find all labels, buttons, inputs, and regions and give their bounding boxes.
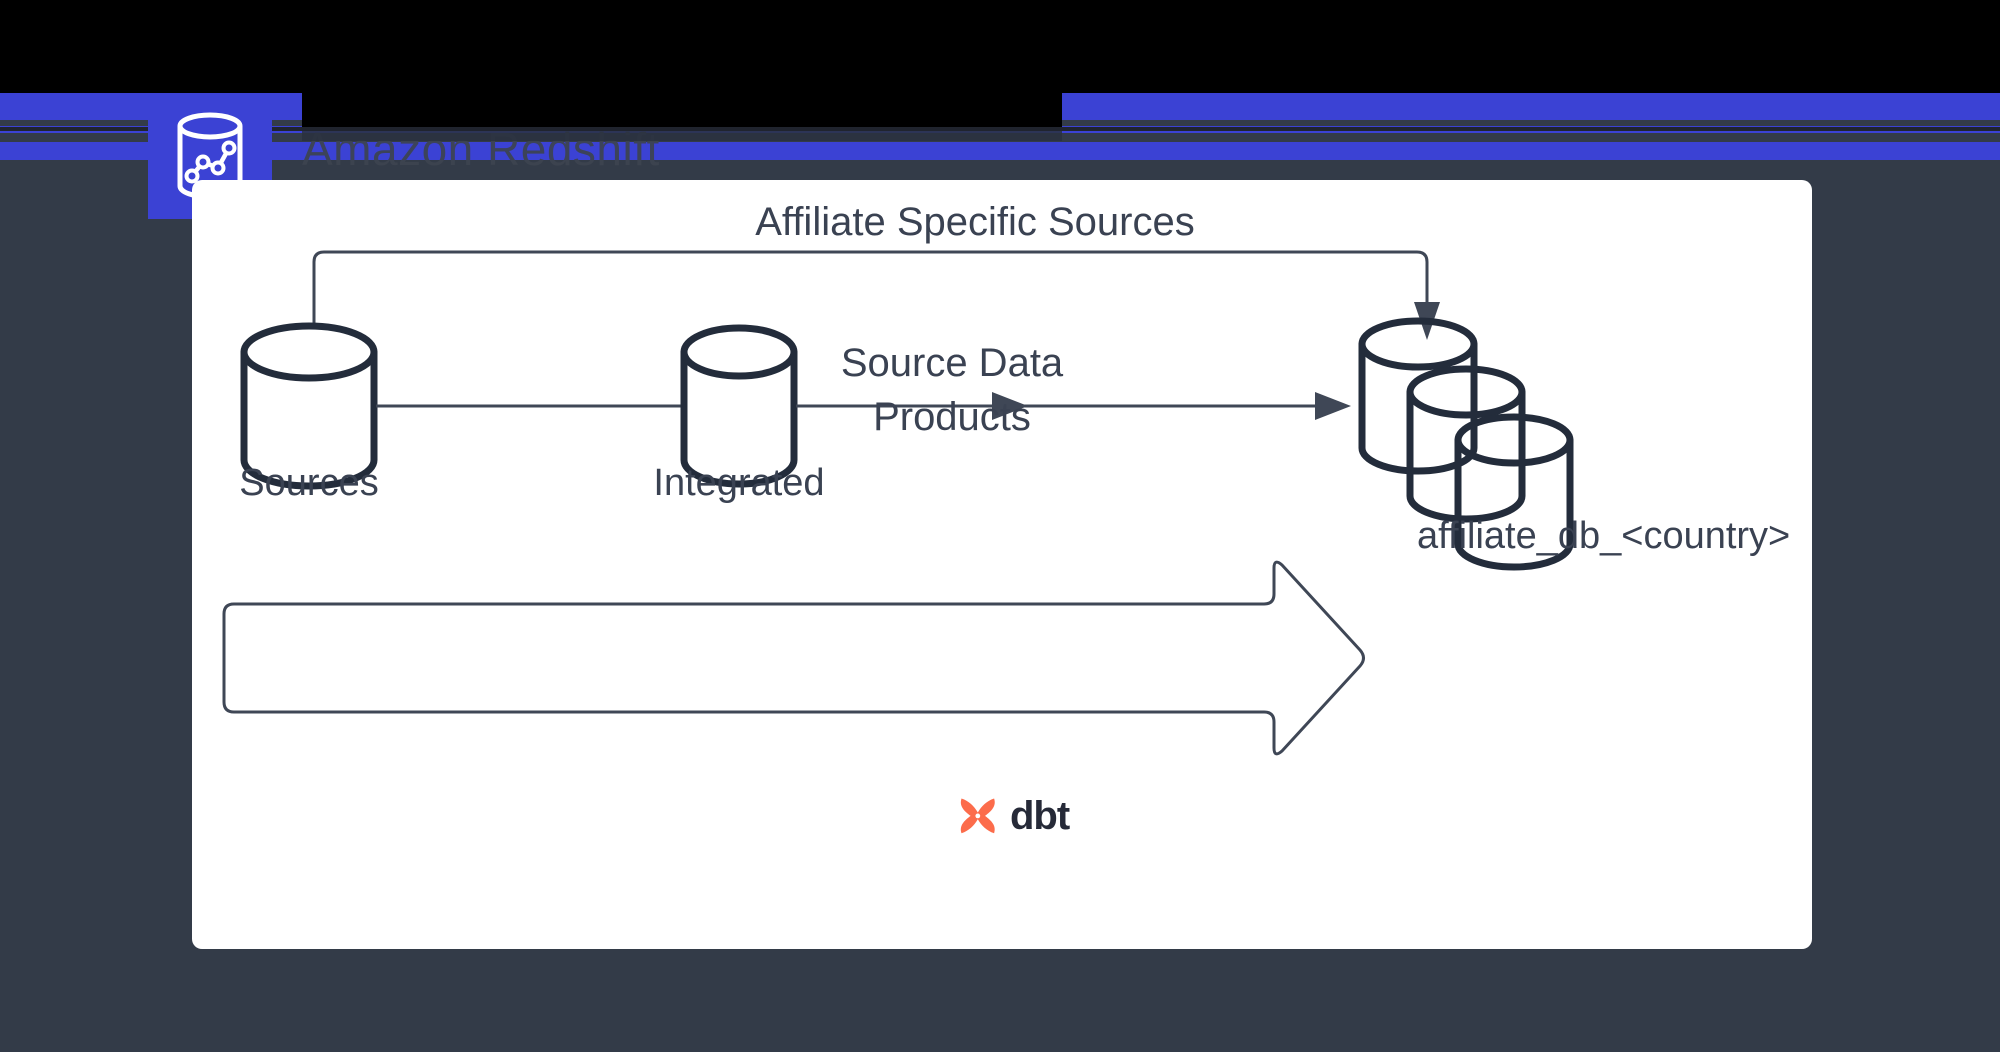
edge-sources-affiliate-line xyxy=(314,252,1427,332)
screenshot-root: Amazon Redshift Affiliate Specific Sourc… xyxy=(0,0,2000,1052)
edge-integrated-affiliate-arrowhead xyxy=(1315,392,1351,420)
dbt-logo: dbt xyxy=(955,793,1069,839)
node-integrated-label: Integrated xyxy=(653,462,824,504)
node-integrated xyxy=(684,328,794,484)
dbt-x-icon xyxy=(955,793,1001,839)
header-title-occluder-mid xyxy=(302,131,1062,141)
edge-sources-affiliate-label: Affiliate Specific Sources xyxy=(755,200,1194,244)
node-sources-label: Sources xyxy=(239,462,378,504)
dbt-wordmark: dbt xyxy=(1010,796,1069,836)
banner-artifact-stripe-blue xyxy=(0,151,2000,160)
edge-integrated-affiliate-label-line1: Source Data xyxy=(841,341,1064,385)
dbt-process-band xyxy=(224,562,1364,754)
affiliate-cylinder-2 xyxy=(1410,369,1522,519)
node-affiliate-db-label: affiliate_db_<country> xyxy=(1417,515,1790,557)
edge-integrated-affiliate-label-line2: Products xyxy=(873,395,1031,439)
